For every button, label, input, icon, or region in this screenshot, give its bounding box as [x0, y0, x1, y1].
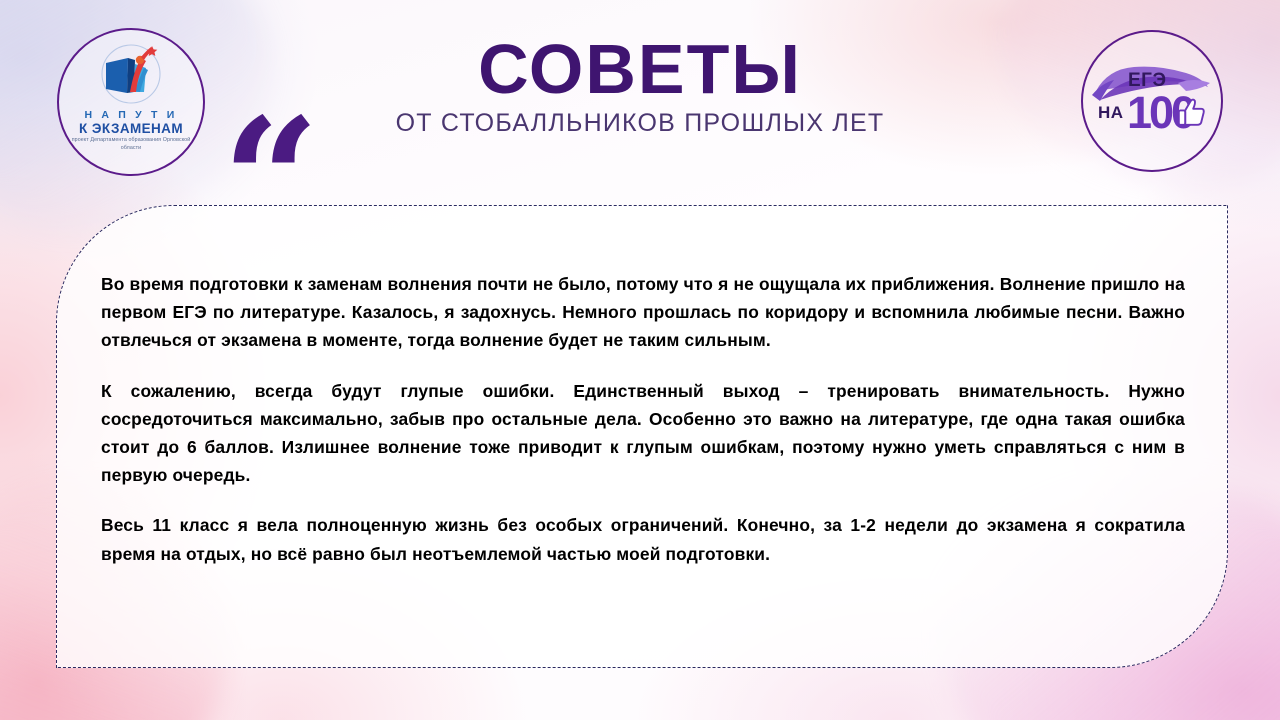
ege-na-100-logo: ЕГЭ НА 100 — [1081, 30, 1223, 172]
page-subtitle: ОТ СТОБАЛЛЬНИКОВ ПРОШЛЫХ ЛЕТ — [240, 109, 1040, 138]
quote-body-text: Во время подготовки к заменам волнения п… — [101, 270, 1185, 568]
slide-header: Н А П У Т И К ЭКЗАМЕНАМ проект Департаме… — [0, 0, 1280, 200]
title-block: СОВЕТЫ ОТ СТОБАЛЛЬНИКОВ ПРОШЛЫХ ЛЕТ — [240, 34, 1040, 138]
quote-paragraph: Во время подготовки к заменам волнения п… — [101, 270, 1185, 355]
opening-quote-icon: “ — [222, 96, 320, 266]
quote-paragraph: К сожалению, всегда будут глупые ошибки.… — [101, 377, 1185, 490]
page-title: СОВЕТЫ — [240, 34, 1040, 105]
logo-right-na-label: НА — [1098, 103, 1124, 123]
book-and-figure-icon — [94, 44, 168, 108]
slide-canvas: Н А П У Т И К ЭКЗАМЕНАМ проект Департаме… — [0, 0, 1280, 720]
logo-left-subtext: проект Департамента образования Орловско… — [71, 137, 191, 152]
quote-paragraph: Весь 11 класс я вела полноценную жизнь б… — [101, 511, 1185, 567]
na-puti-k-ekzamenam-logo: Н А П У Т И К ЭКЗАМЕНАМ проект Департаме… — [57, 28, 205, 176]
thumbs-up-icon — [1174, 96, 1206, 128]
logo-left-line2: К ЭКЗАМЕНАМ — [71, 122, 191, 136]
logo-left-line1: Н А П У Т И — [71, 110, 191, 121]
